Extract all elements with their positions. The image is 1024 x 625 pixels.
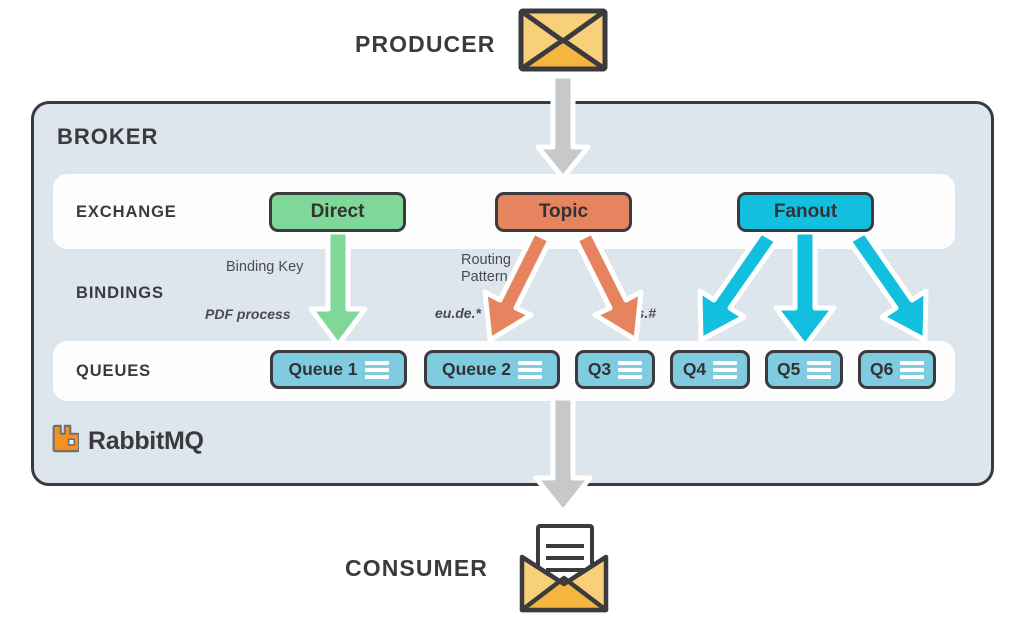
binding-key-value-pdf-process: PDF process	[205, 306, 291, 322]
queue-4-label: Q4	[683, 359, 706, 380]
queue-q5[interactable]: Q5	[765, 350, 843, 389]
rabbitmq-brand: RabbitMQ	[52, 424, 204, 458]
queue-lines-icon	[900, 361, 924, 379]
exchange-fanout-label: Fanout	[774, 201, 837, 223]
exchange-direct[interactable]: Direct	[269, 192, 406, 232]
queue-5-label: Q5	[777, 359, 800, 380]
queue-1-label: Queue 1	[288, 359, 357, 380]
queue-q3[interactable]: Q3	[575, 350, 655, 389]
rabbitmq-wordmark: RabbitMQ	[88, 427, 204, 456]
queue-3-label: Q3	[588, 359, 611, 380]
routing-pattern-label-line-1: Routing	[461, 252, 511, 268]
bindings-row-label: BINDINGS	[76, 284, 164, 303]
queue-lines-icon	[713, 361, 737, 379]
exchange-direct-label: Direct	[311, 201, 365, 223]
queue-q6[interactable]: Q6	[858, 350, 936, 389]
queues-row-label: QUEUES	[76, 362, 151, 381]
queue-lines-icon	[365, 361, 389, 379]
producer-label: PRODUCER	[355, 31, 495, 58]
binding-key-label: Binding Key	[226, 259, 303, 276]
rabbitmq-logo-icon	[52, 424, 79, 458]
exchange-topic[interactable]: Topic	[495, 192, 632, 232]
queue-queue-2[interactable]: Queue 2	[424, 350, 560, 389]
queue-queue-1[interactable]: Queue 1	[270, 350, 407, 389]
open-envelope-with-letter-icon	[518, 512, 610, 616]
queue-6-label: Q6	[870, 359, 893, 380]
queue-lines-icon	[518, 361, 542, 379]
exchange-row-label: EXCHANGE	[76, 203, 177, 222]
broker-title: BROKER	[57, 124, 158, 150]
routing-pattern-label: Routing Pattern	[461, 252, 511, 285]
routing-pattern-value-us-hash: us.#	[628, 305, 656, 321]
queue-lines-icon	[618, 361, 642, 379]
queue-lines-icon	[807, 361, 831, 379]
consumer-label: CONSUMER	[345, 555, 488, 582]
queue-2-label: Queue 2	[442, 359, 511, 380]
closed-envelope-icon	[518, 8, 608, 72]
routing-pattern-label-line-2: Pattern	[461, 269, 508, 285]
queue-q4[interactable]: Q4	[670, 350, 750, 389]
routing-pattern-value-eu-de: eu.de.*	[435, 305, 481, 321]
exchange-topic-label: Topic	[539, 201, 588, 223]
exchange-fanout[interactable]: Fanout	[737, 192, 874, 232]
